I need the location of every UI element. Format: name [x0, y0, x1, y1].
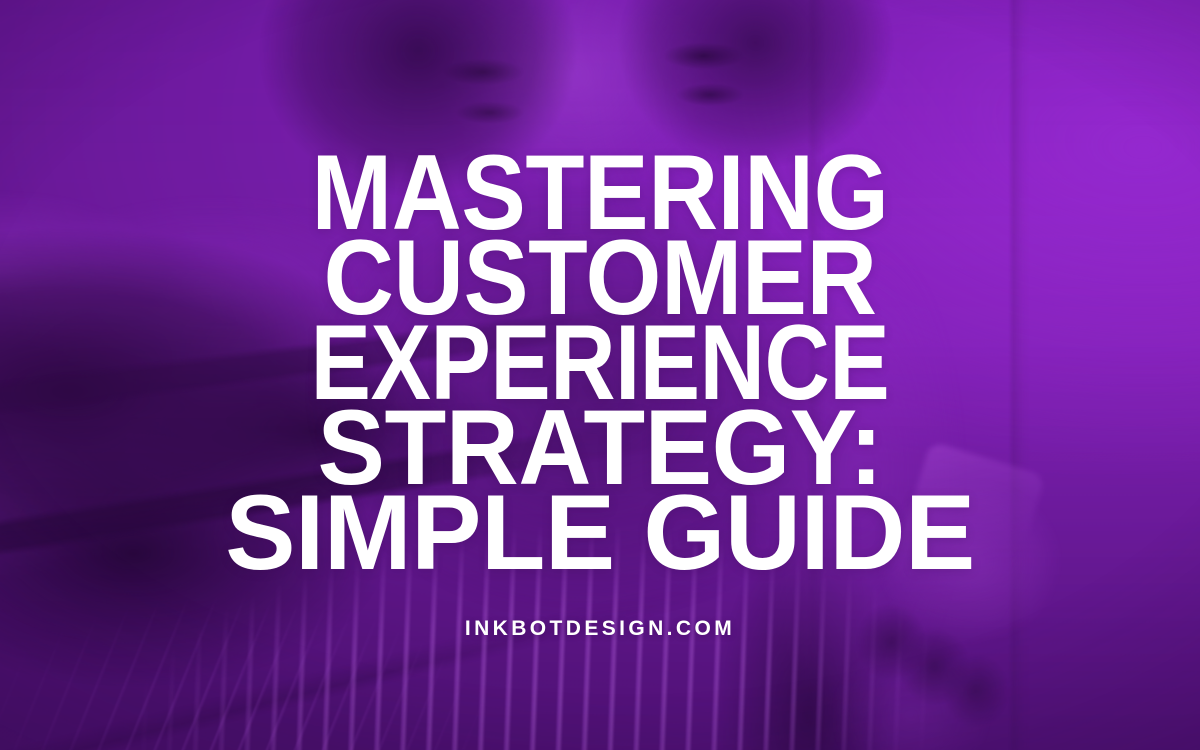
- headline-line-5: Simple Guide: [9, 490, 1191, 575]
- website-url-label: INKBOTDESIGN.COM: [0, 617, 1200, 641]
- headline-block: Mastering Customer Experience Strategy: …: [0, 150, 1200, 575]
- blog-featured-image-banner: Mastering Customer Experience Strategy: …: [0, 0, 1200, 750]
